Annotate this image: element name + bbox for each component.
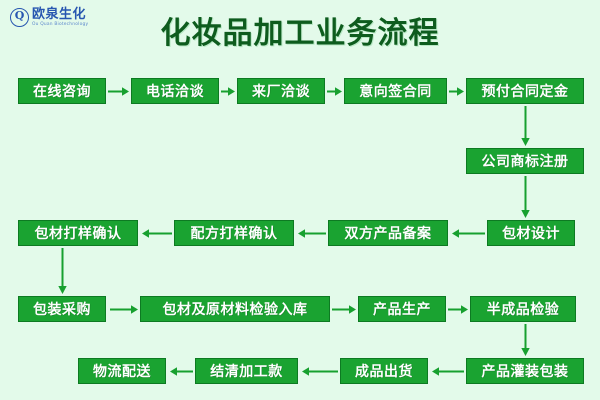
arrow-down-icon bbox=[57, 248, 68, 294]
flow-node[interactable]: 配方打样确认 bbox=[174, 220, 294, 246]
arrow-left-icon bbox=[142, 228, 172, 239]
flow-node[interactable]: 结清加工款 bbox=[195, 358, 298, 384]
flow-node[interactable]: 预付合同定金 bbox=[466, 78, 584, 104]
flow-node[interactable]: 半成品检验 bbox=[470, 296, 576, 322]
arrow-right-icon bbox=[332, 304, 356, 315]
flow-node[interactable]: 产品生产 bbox=[358, 296, 446, 322]
flow-node[interactable]: 来厂洽谈 bbox=[237, 78, 325, 104]
arrow-left-icon bbox=[432, 366, 464, 377]
flow-node[interactable]: 包材设计 bbox=[487, 220, 575, 246]
arrow-down-icon bbox=[520, 176, 531, 218]
flow-node[interactable]: 在线咨询 bbox=[18, 78, 106, 104]
arrow-right-icon bbox=[448, 304, 468, 315]
flow-node[interactable]: 双方产品备案 bbox=[328, 220, 448, 246]
arrow-right-icon bbox=[108, 86, 129, 97]
flow-node[interactable]: 成品出货 bbox=[340, 358, 428, 384]
arrow-down-icon bbox=[520, 324, 531, 356]
arrow-left-icon bbox=[298, 228, 326, 239]
flow-node[interactable]: 物流配送 bbox=[78, 358, 166, 384]
arrow-left-icon bbox=[170, 366, 193, 377]
flow-node[interactable]: 电话洽谈 bbox=[131, 78, 219, 104]
arrow-right-icon bbox=[110, 304, 138, 315]
flow-node[interactable]: 包材及原材料检验入库 bbox=[140, 296, 330, 322]
flow-node[interactable]: 包装采购 bbox=[18, 296, 106, 322]
flow-node[interactable]: 意向签合同 bbox=[344, 78, 447, 104]
flowchart-canvas: Q 欧泉生化 Ou Quan Biotechnology 化妆品加工业务流程 在… bbox=[0, 0, 600, 400]
arrow-left-icon bbox=[452, 228, 485, 239]
arrow-right-icon bbox=[327, 86, 342, 97]
arrow-right-icon bbox=[449, 86, 464, 97]
page-title: 化妆品加工业务流程 bbox=[0, 8, 600, 52]
flow-node[interactable]: 包材打样确认 bbox=[18, 220, 138, 246]
flow-node[interactable]: 产品灌装包装 bbox=[466, 358, 584, 384]
flow-node[interactable]: 公司商标注册 bbox=[466, 148, 584, 174]
arrow-down-icon bbox=[520, 106, 531, 146]
arrow-left-icon bbox=[302, 366, 338, 377]
arrow-right-icon bbox=[221, 86, 235, 97]
